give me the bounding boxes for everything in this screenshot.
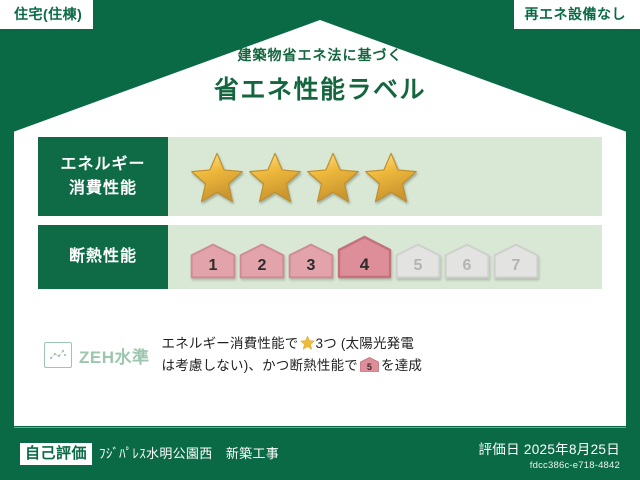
insulation-scale: 1234567 bbox=[190, 235, 539, 279]
insulation-level-number: 5 bbox=[395, 258, 441, 274]
insulation-level-number: 3 bbox=[288, 258, 334, 274]
evaluation-date: 評価日 2025年8月25日 bbox=[478, 438, 620, 458]
insulation-performance-row: 断熱性能 1234567 bbox=[38, 225, 602, 289]
footer-right: 評価日 2025年8月25日 fdcc386c-e718-4842 bbox=[478, 438, 640, 471]
energy-performance-label: 住宅(住棟) 再エネ設備なし 建築物省エネ法に基づく 省エネ性能ラベル エネルギ… bbox=[0, 0, 640, 480]
inline-house-number: 5 bbox=[360, 363, 379, 372]
zeh-standard-note: ZEH水準 エネルギー消費性能で3つ (太陽光発電は考慮しない)、かつ断熱性能で… bbox=[38, 333, 602, 378]
footer-left: 自己評価 ﾌｼﾞﾊﾟﾚｽ水明公園西 新築工事 bbox=[0, 443, 478, 465]
insulation-head-line1: 断熱性能 bbox=[69, 245, 137, 268]
evaluation-id: fdcc386c-e718-4842 bbox=[478, 460, 620, 471]
zeh-chart-icon bbox=[44, 342, 72, 368]
self-assessment-badge: 自己評価 bbox=[20, 443, 92, 465]
label-title-group: 建築物省エネ法に基づく 省エネ性能ラベル bbox=[0, 45, 640, 106]
insulation-level-5: 5 bbox=[395, 243, 441, 279]
insulation-level-6: 6 bbox=[444, 243, 490, 279]
zeh-text-part1: エネルギー消費性能で bbox=[162, 336, 299, 351]
star-icon bbox=[248, 150, 302, 204]
property-name: ﾌｼﾞﾊﾟﾚｽ水明公園西 新築工事 bbox=[99, 443, 279, 462]
insulation-level-number: 7 bbox=[493, 258, 539, 274]
performance-rows: エネルギー 消費性能 断熱性能 1234567 bbox=[38, 137, 602, 298]
renewable-equipment-tag: 再エネ設備なし bbox=[514, 0, 640, 29]
insulation-level-7: 7 bbox=[493, 243, 539, 279]
zeh-label: ZEH水準 bbox=[79, 343, 150, 368]
inline-star-icon bbox=[300, 335, 315, 350]
insulation-level-number: 6 bbox=[444, 258, 490, 274]
energy-head-line2: 消費性能 bbox=[69, 177, 137, 200]
insulation-level-number: 4 bbox=[337, 256, 392, 273]
star-icon bbox=[364, 150, 418, 204]
inline-house-icon: 5 bbox=[360, 357, 379, 372]
insulation-performance-label-head: 断熱性能 bbox=[38, 225, 168, 289]
star-rating bbox=[190, 150, 418, 204]
insulation-level-number: 1 bbox=[190, 258, 236, 274]
zeh-text-part2: 3つ (太陽光発電 bbox=[316, 336, 415, 351]
insulation-level-1: 1 bbox=[190, 243, 236, 279]
insulation-level-number: 2 bbox=[239, 258, 285, 274]
insulation-level-2: 2 bbox=[239, 243, 285, 279]
energy-head-line1: エネルギー bbox=[60, 153, 145, 176]
zeh-badge: ZEH水準 bbox=[38, 342, 150, 368]
insulation-level-3: 3 bbox=[288, 243, 334, 279]
page-title: 省エネ性能ラベル bbox=[0, 70, 640, 106]
star-icon bbox=[190, 150, 244, 204]
energy-performance-value bbox=[168, 137, 602, 216]
insulation-level-4: 4 bbox=[337, 235, 392, 279]
building-type-tag: 住宅(住棟) bbox=[0, 0, 93, 29]
insulation-performance-value: 1234567 bbox=[168, 225, 602, 289]
label-footer: 自己評価 ﾌｼﾞﾊﾟﾚｽ水明公園西 新築工事 評価日 2025年8月25日 fd… bbox=[0, 428, 640, 480]
zeh-text-line2-part1: は考慮しない)、かつ断熱性能で bbox=[162, 358, 359, 373]
star-icon bbox=[306, 150, 360, 204]
energy-performance-row: エネルギー 消費性能 bbox=[38, 137, 602, 216]
zeh-text-part3: を達成 bbox=[381, 358, 422, 373]
zeh-description: エネルギー消費性能で3つ (太陽光発電は考慮しない)、かつ断熱性能で5を達成 bbox=[162, 333, 423, 378]
label-subtitle: 建築物省エネ法に基づく bbox=[0, 45, 640, 65]
energy-performance-label-head: エネルギー 消費性能 bbox=[38, 137, 168, 216]
